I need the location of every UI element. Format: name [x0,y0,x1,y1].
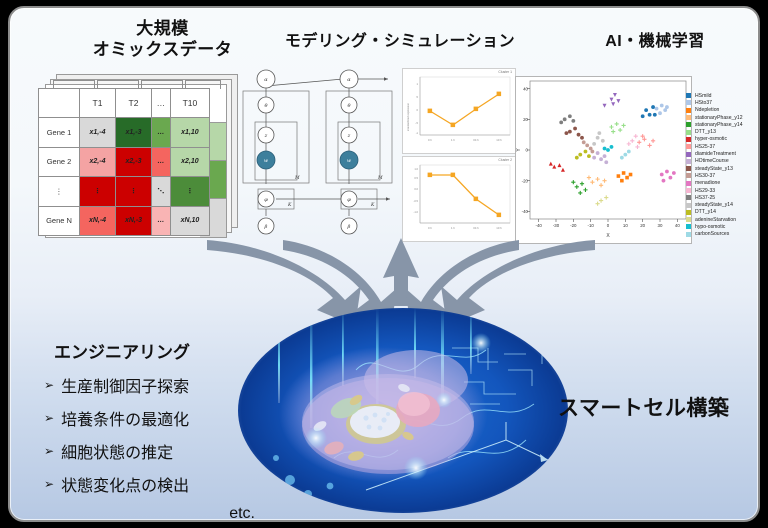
x-axis-tick: 20 [640,223,645,228]
legend-label: menadione [695,180,720,186]
legend-item: hypo-osmotic [686,223,760,230]
list-item: ➢生産制御因子探索 [44,373,269,397]
omics-table-body: T1T2…T10Gene 1x1,-4x1,-3…x1,10Gene 2x2,-… [39,89,210,236]
legend-item: adenineStarvation [686,216,760,223]
scatter-point [662,179,666,183]
scatter-point [651,105,655,109]
scatter-point [620,156,624,160]
omics-column-brackets [45,74,225,88]
legend-swatch-icon [686,188,691,193]
scatter-point [597,131,601,135]
scatter-point [580,136,584,140]
legend-swatch-icon [686,173,691,178]
svg-text:0: 0 [417,108,419,112]
svg-text:0.5: 0.5 [414,176,418,180]
list-item-label: 培養条件の最適化 [61,406,189,430]
scatter-point [610,145,614,149]
legend-swatch-icon [686,137,691,142]
heading-modeling: モデリング・シミュレーション [250,32,550,52]
svg-text:1 h: 1 h [451,226,455,230]
scatter-point [575,156,579,160]
scatter-point [617,174,621,178]
svg-text:-.5: -.5 [415,121,419,125]
scatter-point [565,131,569,135]
legend-swatch-icon [686,115,691,120]
legend-label: adenineStarvation [695,217,736,223]
x-axis-tick: 0 [607,223,610,228]
scatter-point [665,170,669,174]
svg-text:10 h: 10 h [496,138,502,142]
heading-omics: 大規模 オミックスデータ [65,18,260,61]
scatter-point [623,153,627,157]
scatter-point [622,171,626,175]
legend-item: stationaryPhase_y14 [686,121,760,128]
svg-text:K: K [370,202,375,208]
svg-text:Y: Y [516,148,522,152]
legend-label: steadyState_y14 [695,202,733,208]
omics-heatmap-table: T1T2…T10Gene 1x1,-4x1,-3…x1,10Gene 2x2,-… [38,88,210,236]
smart-cell-svg [238,308,568,513]
scatter-point [660,104,664,108]
bullet-arrow-icon: ➢ [44,477,54,491]
x-axis-tick: -40 [535,223,542,228]
scatter-point [620,179,624,183]
legend-item: DTT_y14 [686,209,760,216]
omics-column-header: … [152,89,171,118]
legend-label: DTT_y13 [695,129,716,135]
legend-item: stationaryPhase_y12 [686,114,760,121]
line-chart-cluster-1: Cluster 1 0 h1 h04 h10 h 1.50 [402,68,516,154]
legend-item: steadyState_y13 [686,165,760,172]
legend-label: HS37-25 [695,195,715,201]
x-axis-tick: 30 [658,223,663,228]
legend-item: HS37-25 [686,194,760,201]
scatter-point [573,127,577,131]
bullet-arrow-icon: ➢ [44,378,54,392]
svg-text:10 h: 10 h [496,226,502,230]
svg-text:w: w [264,158,269,164]
list-item: ➢細胞状態の推定 [44,439,269,463]
legend-swatch-icon [686,203,691,208]
scatter-point [629,173,633,177]
omics-row-label: ⋮ [39,177,80,206]
scatter-point [587,154,591,158]
engineering-list: ➢生産制御因子探索➢培養条件の最適化➢細胞状態の推定➢状態変化点の検出 [44,373,269,496]
omics-heatmap-cell: … [152,206,171,235]
scatter-point [627,150,631,154]
omics-heatmap-cell: x1,-4 [80,118,116,147]
svg-text:K: K [287,202,292,208]
scatter-point [596,136,600,140]
legend-item: HS25-37 [686,143,760,150]
svg-text:X: X [606,233,610,239]
scatter-point [660,173,664,177]
scatter-point [582,140,586,144]
svg-text:φ: φ [347,197,351,203]
svg-text:1 h: 1 h [451,138,455,142]
legend-label: HS25-37 [695,144,715,150]
omics-row-label: Gene N [39,206,80,235]
bullet-arrow-icon: ➢ [44,411,54,425]
legend-item: HSto37 [686,99,760,106]
legend-swatch-icon [686,181,691,186]
omics-heatmap-cell: … [152,147,171,176]
legend-swatch-icon [686,224,691,229]
scatter-point [601,139,605,143]
svg-text:04 h: 04 h [473,138,479,142]
slide-root: 大規模 オミックスデータ モデリング・シミュレーション AI・機械学習 T1T2… [0,0,768,528]
legend-label: HOtimeCourse [695,158,729,164]
smart-cell-illustration [238,308,568,513]
omics-column-header: T10 [170,89,209,118]
omics-table-stack: T1T2…T10Gene 1x1,-4x1,-3…x1,10Gene 2x2,-… [38,74,238,236]
legend-swatch-icon [686,217,691,222]
list-item-label: 細胞状態の推定 [61,439,173,463]
legend-label: HS29-33 [695,188,715,194]
cluster-line-charts: Cluster 1 0 h1 h04 h10 h 1.50 [402,68,514,240]
engineering-etc: etc. [44,505,269,522]
legend-swatch-icon [686,93,691,98]
omics-heatmap-cell: xN,-3 [116,206,152,235]
svg-text:β: β [264,224,268,230]
svg-text:z: z [264,133,268,139]
scatter-point [577,133,581,137]
omics-column-header: T2 [116,89,152,118]
svg-text:β: β [347,224,351,230]
svg-text:-0.5: -0.5 [414,199,419,203]
svg-text:-1: -1 [416,131,419,135]
omics-heatmap-cell: ⋮ [80,177,116,206]
svg-text:.5: .5 [416,95,419,99]
legend-swatch-icon [686,108,691,113]
legend-label: stationaryPhase_y12 [695,115,743,121]
line-chart-cluster-2: Cluster 2 0 h1 h04 h10 h 1.00 [402,156,516,242]
scatter-point [592,156,596,160]
scatter-point [585,144,589,148]
legend-item: carbonSources [686,231,760,238]
legend-label: hypo-osmotic [695,224,725,230]
legend-swatch-icon [686,100,691,105]
x-axis-tick: -10 [587,223,594,228]
legend-swatch-icon [686,195,691,200]
legend-swatch-icon [686,144,691,149]
omics-row-label: Gene 2 [39,147,80,176]
svg-text:1.0: 1.0 [414,167,418,171]
svg-text:φ: φ [264,197,268,203]
scatter-point [596,151,600,155]
bullet-arrow-icon: ➢ [44,444,54,458]
list-item: ➢状態変化点の検出 [44,472,269,496]
scatter-point [658,111,662,115]
legend-item: HSmild [686,92,760,99]
legend-item: steadyState_y14 [686,201,760,208]
scatter-point [568,114,572,118]
scatter-point [606,148,610,152]
legend-label: stationaryPhase_y14 [695,122,743,128]
scatter-point [648,113,652,117]
table-row: Gene 1x1,-4x1,-3…x1,10 [39,118,210,147]
legend-label: HSmild [695,93,711,99]
svg-text:1: 1 [417,82,419,86]
scatter-point [669,176,673,180]
omics-column-header: T1 [80,89,116,118]
legend-swatch-icon [686,166,691,171]
legend-label: Ndepletion [695,107,719,113]
legend-swatch-icon [686,152,691,157]
scatter-point [665,105,669,109]
smart-cell-label: スマートセル構築 [558,392,729,422]
legend-item: HS30-37 [686,172,760,179]
line-chart-2-svg: 0 h1 h04 h10 h 1.00.50.0-0.5-1.0 [403,157,515,241]
omics-heatmap-cell: x1,-3 [116,118,152,147]
svg-text:-1.0: -1.0 [414,210,419,214]
scatter-point [641,114,645,118]
legend-item: menadione [686,180,760,187]
svg-text:w: w [347,158,352,164]
tsne-legend: HSmildHSto37NdepletionstationaryPhase_y1… [686,92,760,244]
heading-omics-line1: 大規模 [65,18,260,39]
legend-label: steadyState_y13 [695,166,733,172]
engineering-title: エンジニアリング [54,338,269,363]
table-row: ⋮⋮⋮⋱⋮ [39,177,210,206]
svg-text:θ: θ [264,103,267,109]
scatter-point [592,142,596,146]
legend-swatch-icon [686,122,691,127]
legend-label: DTT_y14 [695,209,716,215]
scatter-point [563,117,567,121]
omics-heatmap-cell: xN,10 [170,206,209,235]
legend-label: HSto37 [695,100,712,106]
table-row: Gene NxN,-4xN,-3…xN,10 [39,206,210,235]
scatter-point [672,171,676,175]
x-axis-tick: 10 [623,223,628,228]
omics-heatmap-cell: x2,-4 [80,147,116,176]
scatter-point [655,107,659,111]
table-row: Gene 2x2,-4x2,-3…x2,10 [39,147,210,176]
svg-text:04 h: 04 h [473,226,479,230]
tsne-scatter-svg: -40-30-20-10010203040 -40-2002040 X Y [516,77,691,243]
legend-swatch-icon [686,159,691,164]
scatter-point [559,121,563,125]
legend-item: DTT_y13 [686,128,760,135]
omics-heatmap-cell: ⋱ [152,177,171,206]
plate-model-diagram: αα θθ zz ww φφ ββ MM KK [238,66,400,238]
scatter-point [578,153,582,157]
x-axis-tick: 40 [675,223,680,228]
scatter-point [591,150,595,154]
legend-swatch-icon [686,232,691,237]
svg-text:M: M [294,175,300,181]
plate-diagram-svg: αα θθ zz ww φφ ββ MM KK [238,66,400,238]
scatter-point [568,130,572,134]
legend-item: HS29-33 [686,187,760,194]
heading-omics-line2: オミックスデータ [65,39,260,60]
omics-header-row: T1T2…T10 [39,89,210,118]
list-item-label: 生産制御因子探索 [61,373,189,397]
slide-panel: 大規模 オミックスデータ モデリング・シミュレーション AI・機械学習 T1T2… [8,6,760,522]
scatter-point [644,108,648,112]
omics-heatmap-cell: x2,10 [170,147,209,176]
scatter-point [599,157,603,161]
scatter-point [603,147,607,151]
omics-heatmap-cell: ⋮ [170,177,209,206]
tsne-scatter-plot: -40-30-20-10010203040 -40-2002040 X Y [515,76,692,244]
svg-text:M: M [377,175,383,181]
x-axis-tick: -20 [570,223,577,228]
x-axis-tick: -30 [553,223,560,228]
scatter-point [625,176,629,180]
omics-heatmap-cell: x2,-3 [116,147,152,176]
svg-text:θ: θ [347,103,350,109]
legend-swatch-icon [686,210,691,215]
scatter-point [603,154,607,158]
line-chart-1-svg: 0 h1 h04 h10 h 1.50-.5-1 standardized ex… [403,69,515,153]
legend-item: Ndepletion [686,107,760,114]
omics-heatmap-cell: x1,10 [170,118,209,147]
legend-label: carbonSources [695,231,729,237]
svg-text:z: z [347,133,351,139]
omics-corner-cell [39,89,80,118]
svg-text:0 h: 0 h [428,226,432,230]
legend-label: diamideTreatment [695,151,736,157]
scatter-point [584,150,588,154]
engineering-block: エンジニアリング ➢生産制御因子探索➢培養条件の最適化➢細胞状態の推定➢状態変化… [44,338,269,522]
omics-heatmap-cell: … [152,118,171,147]
heading-ai: AI・機械学習 [575,32,735,52]
omics-heatmap-cell: ⋮ [116,177,152,206]
legend-label: HS30-37 [695,173,715,179]
omics-row-label: Gene 1 [39,118,80,147]
legend-item: hyper-osmotic [686,136,760,143]
legend-item: diamideTreatment [686,150,760,157]
svg-text:0 h: 0 h [428,138,432,142]
svg-text:standardized expression: standardized expression [406,102,410,131]
list-item-label: 状態変化点の検出 [61,472,189,496]
legend-swatch-icon [686,130,691,135]
scatter-point [653,113,657,117]
legend-label: hyper-osmotic [695,136,727,142]
list-item: ➢培養条件の最適化 [44,406,269,430]
legend-item: HOtimeCourse [686,158,760,165]
scatter-point [571,119,575,123]
omics-heatmap-cell: xN,-4 [80,206,116,235]
scatter-point [604,160,608,164]
svg-text:0.0: 0.0 [414,187,418,191]
